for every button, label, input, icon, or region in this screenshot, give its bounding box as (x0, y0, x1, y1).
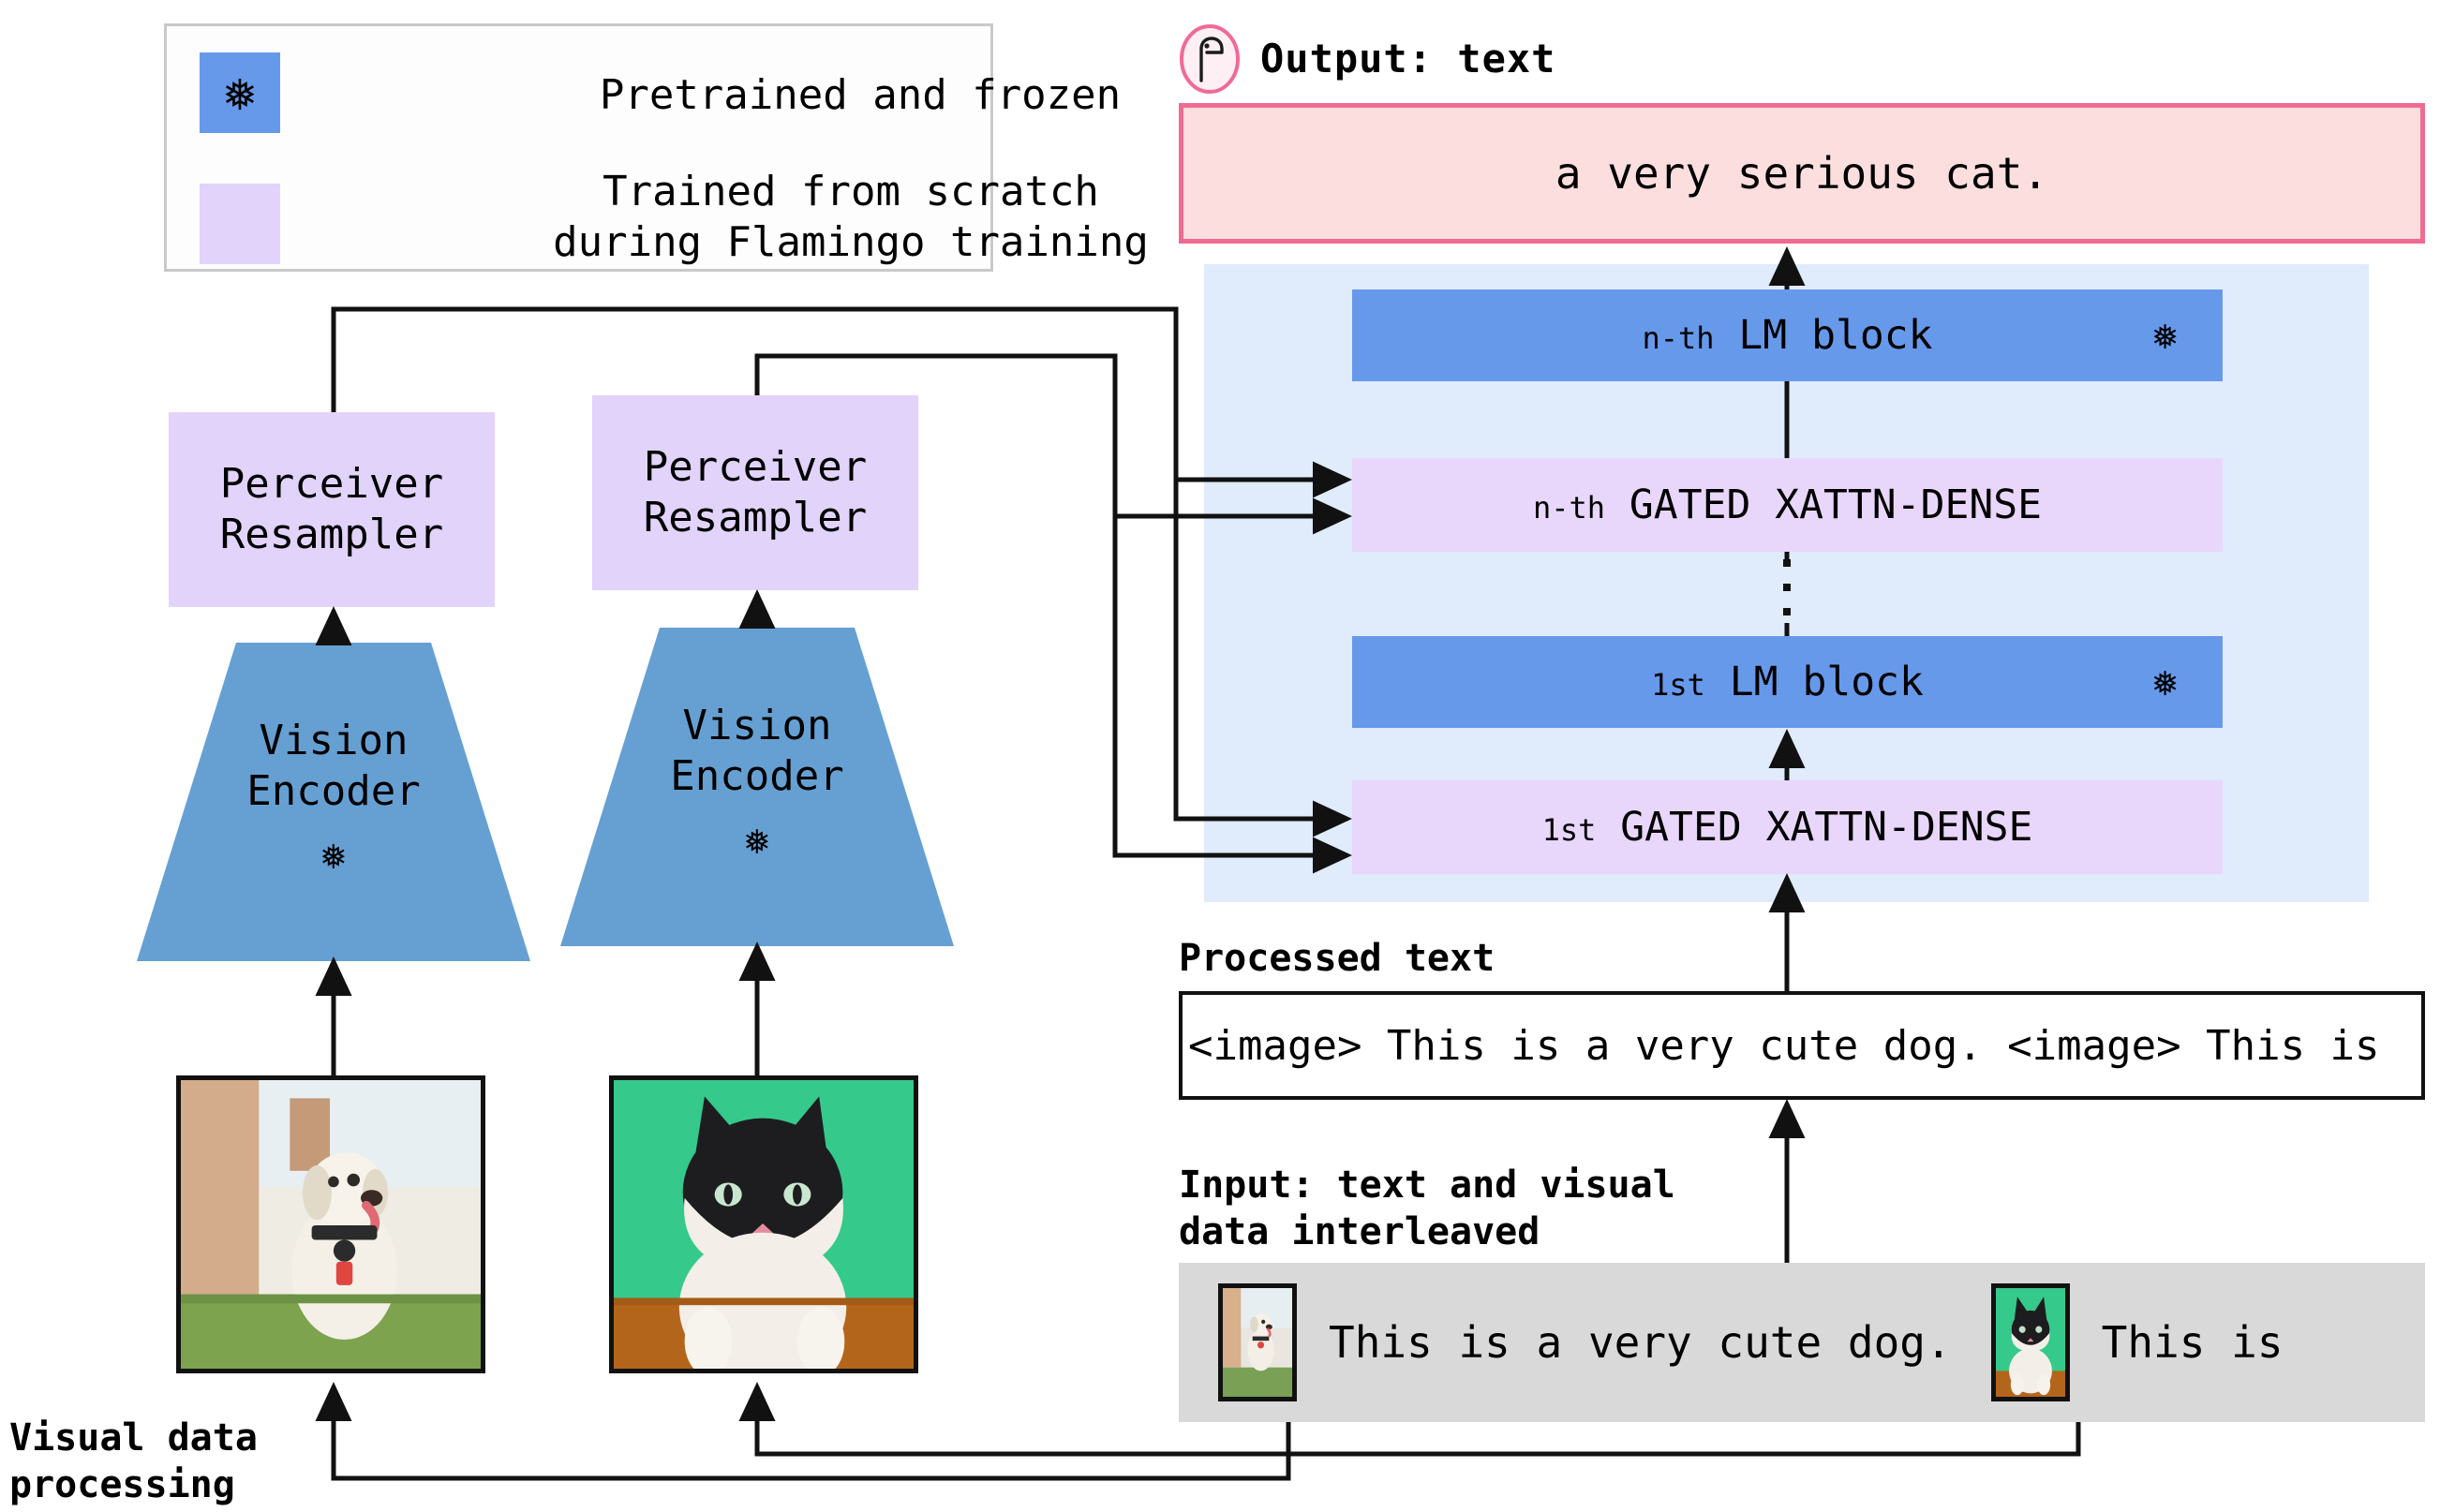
input-label-line2: data interleaved (1179, 1208, 1675, 1255)
vision-encoder-2-label: Vision Encoder (560, 701, 954, 801)
lm-block-n-prefix: n-th (1642, 320, 1714, 356)
gated-xattn-dense-1-label: 1st GATED XATTN-DENSE (1542, 804, 2033, 851)
vision-encoder-2-line2: Encoder (670, 752, 843, 800)
snowflake-icon: ❅ (224, 67, 256, 119)
snowflake-icon: ❅ (137, 835, 530, 876)
snowflake-icon: ❅ (2153, 315, 2179, 356)
legend-trained-label-line1: Trained from scratch (542, 167, 1160, 217)
legend-frozen-swatch: ❅ (200, 52, 280, 133)
input-label: Input: text and visual data interleaved (1179, 1162, 1675, 1255)
gated-xattn-dense-n-title: GATED XATTN-DENSE (1629, 482, 2042, 528)
perceiver-resampler-2-label: Perceiver Resampler (644, 442, 867, 542)
input-text-segment-1: This is a very cute dog. (1329, 1317, 1952, 1368)
visual-label-line1: Visual data (9, 1415, 258, 1461)
output-label: Output: text (1260, 36, 1555, 82)
perceiver-resampler-1-label: Perceiver Resampler (220, 459, 443, 559)
legend-trained-swatch (200, 184, 280, 264)
gated-xattn-dense-n-prefix: n-th (1533, 490, 1605, 526)
gated-xattn-dense-1-title: GATED XATTN-DENSE (1620, 804, 2032, 851)
gated-xattn-dense-1[interactable]: 1st GATED XATTN-DENSE (1352, 780, 2223, 874)
lm-block-1[interactable]: 1st LM block ❅ (1352, 636, 2223, 728)
perceiver-resampler-2-line1: Perceiver (644, 443, 867, 491)
vision-encoder-1-line2: Encoder (246, 767, 420, 815)
cat-thumbnail (1991, 1283, 2070, 1401)
legend-trained-label: Trained from scratch during Flamingo tra… (542, 167, 1160, 267)
vision-encoder-1[interactable]: Vision Encoder ❅ (137, 643, 530, 961)
dog-photo (176, 1075, 485, 1373)
arrow-input-dog-to-vision (334, 1386, 1288, 1478)
vertical-ellipsis (1783, 559, 1791, 632)
visual-data-processing-label: Visual data processing (9, 1415, 258, 1508)
snowflake-icon: ❅ (560, 820, 954, 861)
processed-text-box: <image> This is a very cute dog. <image>… (1179, 991, 2425, 1100)
vision-encoder-1-line1: Vision (260, 717, 409, 764)
lm-block-1-label: 1st LM block (1651, 659, 1924, 705)
snowflake-icon: ❅ (2153, 661, 2179, 703)
legend-trained-label-line2: during Flamingo training (542, 217, 1160, 268)
gated-xattn-dense-1-prefix: 1st (1542, 812, 1597, 848)
visual-label-line2: processing (9, 1461, 258, 1508)
legend-panel: ❅ Pretrained and frozen Trained from scr… (164, 23, 993, 272)
dog-thumbnail (1218, 1283, 1297, 1401)
legend-frozen-label: Pretrained and frozen (570, 71, 1151, 119)
perceiver-resampler-2-line2: Resampler (644, 494, 867, 541)
vision-encoder-1-label: Vision Encoder (137, 716, 530, 816)
output-text: a very serious cat. (1555, 148, 2048, 199)
flamingo-icon (1179, 24, 1241, 94)
gated-xattn-dense-n[interactable]: n-th GATED XATTN-DENSE (1352, 458, 2223, 552)
perceiver-resampler-1-line1: Perceiver (220, 460, 443, 508)
lm-block-1-prefix: 1st (1651, 667, 1705, 703)
processed-text-value: <image> This is a very cute dog. <image>… (1183, 1022, 2380, 1070)
vision-encoder-2[interactable]: Vision Encoder ❅ (560, 628, 954, 946)
input-label-line1: Input: text and visual (1179, 1162, 1675, 1208)
lm-block-n-title: LM block (1738, 312, 1932, 359)
perceiver-resampler-1-line2: Resampler (220, 511, 443, 558)
output-text-box: a very serious cat. (1179, 103, 2425, 244)
input-sequence-strip: This is a very cute dog. This is (1179, 1263, 2425, 1422)
cat-photo (609, 1075, 918, 1373)
processed-text-label: Processed text (1179, 937, 1495, 980)
vision-encoder-2-line1: Vision (683, 702, 832, 749)
lm-block-n-label: n-th LM block (1642, 312, 1932, 359)
lm-block-1-title: LM block (1730, 659, 1924, 705)
lm-block-n[interactable]: n-th LM block ❅ (1352, 289, 2223, 381)
input-text-segment-2: This is (2102, 1317, 2284, 1368)
perceiver-resampler-1[interactable]: Perceiver Resampler (169, 412, 495, 607)
perceiver-resampler-2[interactable]: Perceiver Resampler (592, 395, 918, 590)
gated-xattn-dense-n-label: n-th GATED XATTN-DENSE (1533, 482, 2042, 528)
